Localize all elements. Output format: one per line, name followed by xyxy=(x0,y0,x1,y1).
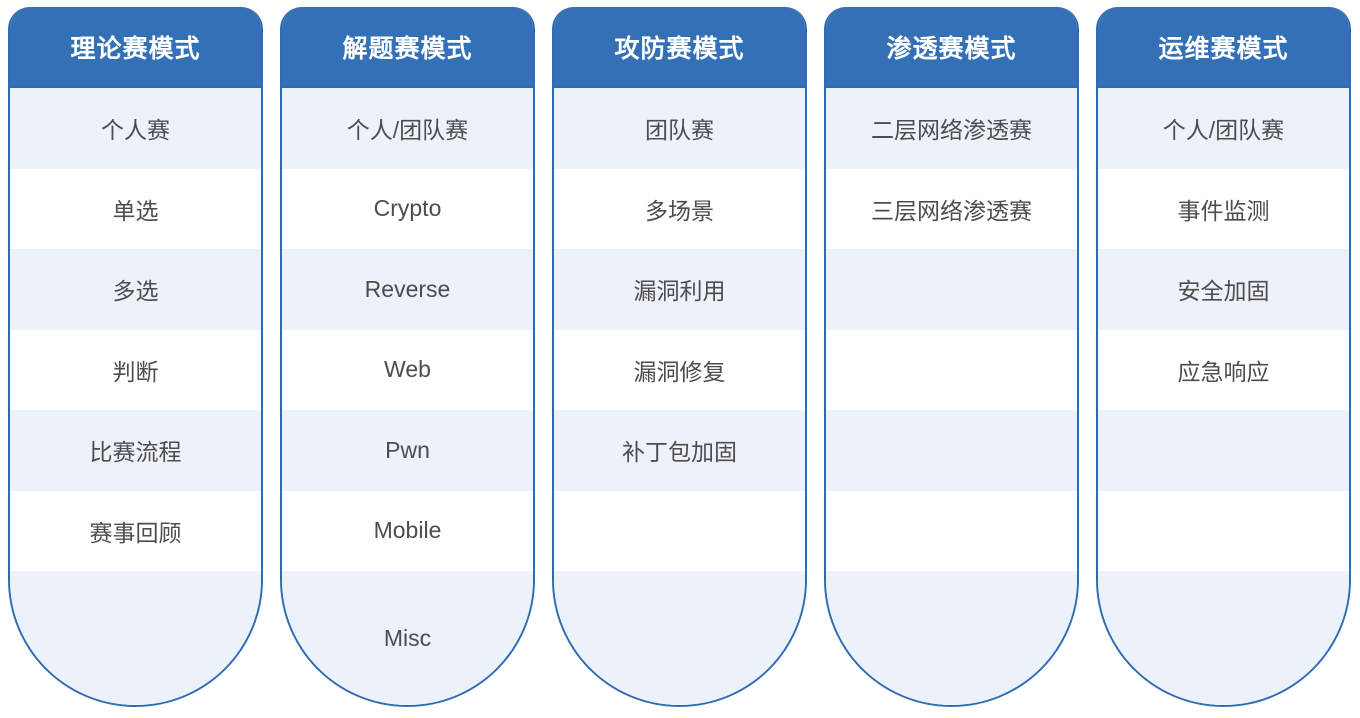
list-item xyxy=(826,330,1077,411)
column-row-list: 个人/团队赛 事件监测 安全加固 应急响应 xyxy=(1098,88,1349,705)
list-item[interactable]: 个人赛 xyxy=(10,88,261,169)
list-item xyxy=(826,491,1077,572)
list-item[interactable]: 应急响应 xyxy=(1098,330,1349,411)
list-item[interactable]: 二层网络渗透赛 xyxy=(826,88,1077,169)
list-item xyxy=(554,571,805,705)
list-item[interactable]: 比赛流程 xyxy=(10,410,261,491)
mode-column-penetration[interactable]: 渗透赛模式 二层网络渗透赛 三层网络渗透赛 xyxy=(824,7,1079,707)
column-row-list: 个人/团队赛 Crypto Reverse Web Pwn Mobile Mis… xyxy=(282,88,533,705)
column-row-list: 个人赛 单选 多选 判断 比赛流程 赛事回顾 xyxy=(10,88,261,705)
list-item[interactable]: 判断 xyxy=(10,330,261,411)
column-row-list: 团队赛 多场景 漏洞利用 漏洞修复 补丁包加固 xyxy=(554,88,805,705)
column-header-title: 渗透赛模式 xyxy=(825,7,1078,88)
list-item[interactable]: 安全加固 xyxy=(1098,249,1349,330)
mode-column-operations[interactable]: 运维赛模式 个人/团队赛 事件监测 安全加固 应急响应 xyxy=(1096,7,1351,707)
list-item[interactable]: 三层网络渗透赛 xyxy=(826,169,1077,250)
mode-column-theory[interactable]: 理论赛模式 个人赛 单选 多选 判断 比赛流程 赛事回顾 xyxy=(8,7,263,707)
list-item[interactable]: Crypto xyxy=(282,169,533,250)
list-item[interactable]: 个人/团队赛 xyxy=(1098,88,1349,169)
list-item xyxy=(826,571,1077,705)
list-item[interactable]: 赛事回顾 xyxy=(10,491,261,572)
list-item[interactable]: 漏洞利用 xyxy=(554,249,805,330)
column-row-list: 二层网络渗透赛 三层网络渗透赛 xyxy=(826,88,1077,705)
list-item[interactable]: Reverse xyxy=(282,249,533,330)
column-header-title: 解题赛模式 xyxy=(281,7,534,88)
mode-column-jeopardy[interactable]: 解题赛模式 个人/团队赛 Crypto Reverse Web Pwn Mobi… xyxy=(280,7,535,707)
list-item xyxy=(1098,571,1349,705)
list-item xyxy=(826,410,1077,491)
column-header-title: 理论赛模式 xyxy=(9,7,262,88)
mode-column-attack-defense[interactable]: 攻防赛模式 团队赛 多场景 漏洞利用 漏洞修复 补丁包加固 xyxy=(552,7,807,707)
list-item xyxy=(826,249,1077,330)
list-item[interactable]: 补丁包加固 xyxy=(554,410,805,491)
list-item[interactable]: 漏洞修复 xyxy=(554,330,805,411)
list-item xyxy=(10,571,261,705)
list-item xyxy=(1098,410,1349,491)
list-item xyxy=(554,491,805,572)
list-item[interactable]: Pwn xyxy=(282,410,533,491)
list-item[interactable]: Web xyxy=(282,330,533,411)
list-item[interactable]: Misc xyxy=(282,571,533,705)
list-item[interactable]: 单选 xyxy=(10,169,261,250)
list-item[interactable]: 事件监测 xyxy=(1098,169,1349,250)
list-item[interactable]: 个人/团队赛 xyxy=(282,88,533,169)
column-header-title: 攻防赛模式 xyxy=(553,7,806,88)
list-item[interactable]: 团队赛 xyxy=(554,88,805,169)
list-item[interactable]: 多场景 xyxy=(554,169,805,250)
list-item[interactable]: 多选 xyxy=(10,249,261,330)
list-item[interactable]: Mobile xyxy=(282,491,533,572)
list-item xyxy=(1098,491,1349,572)
competition-modes-board: 理论赛模式 个人赛 单选 多选 判断 比赛流程 赛事回顾 解题赛模式 个人/团队… xyxy=(0,0,1360,718)
column-header-title: 运维赛模式 xyxy=(1097,7,1350,88)
